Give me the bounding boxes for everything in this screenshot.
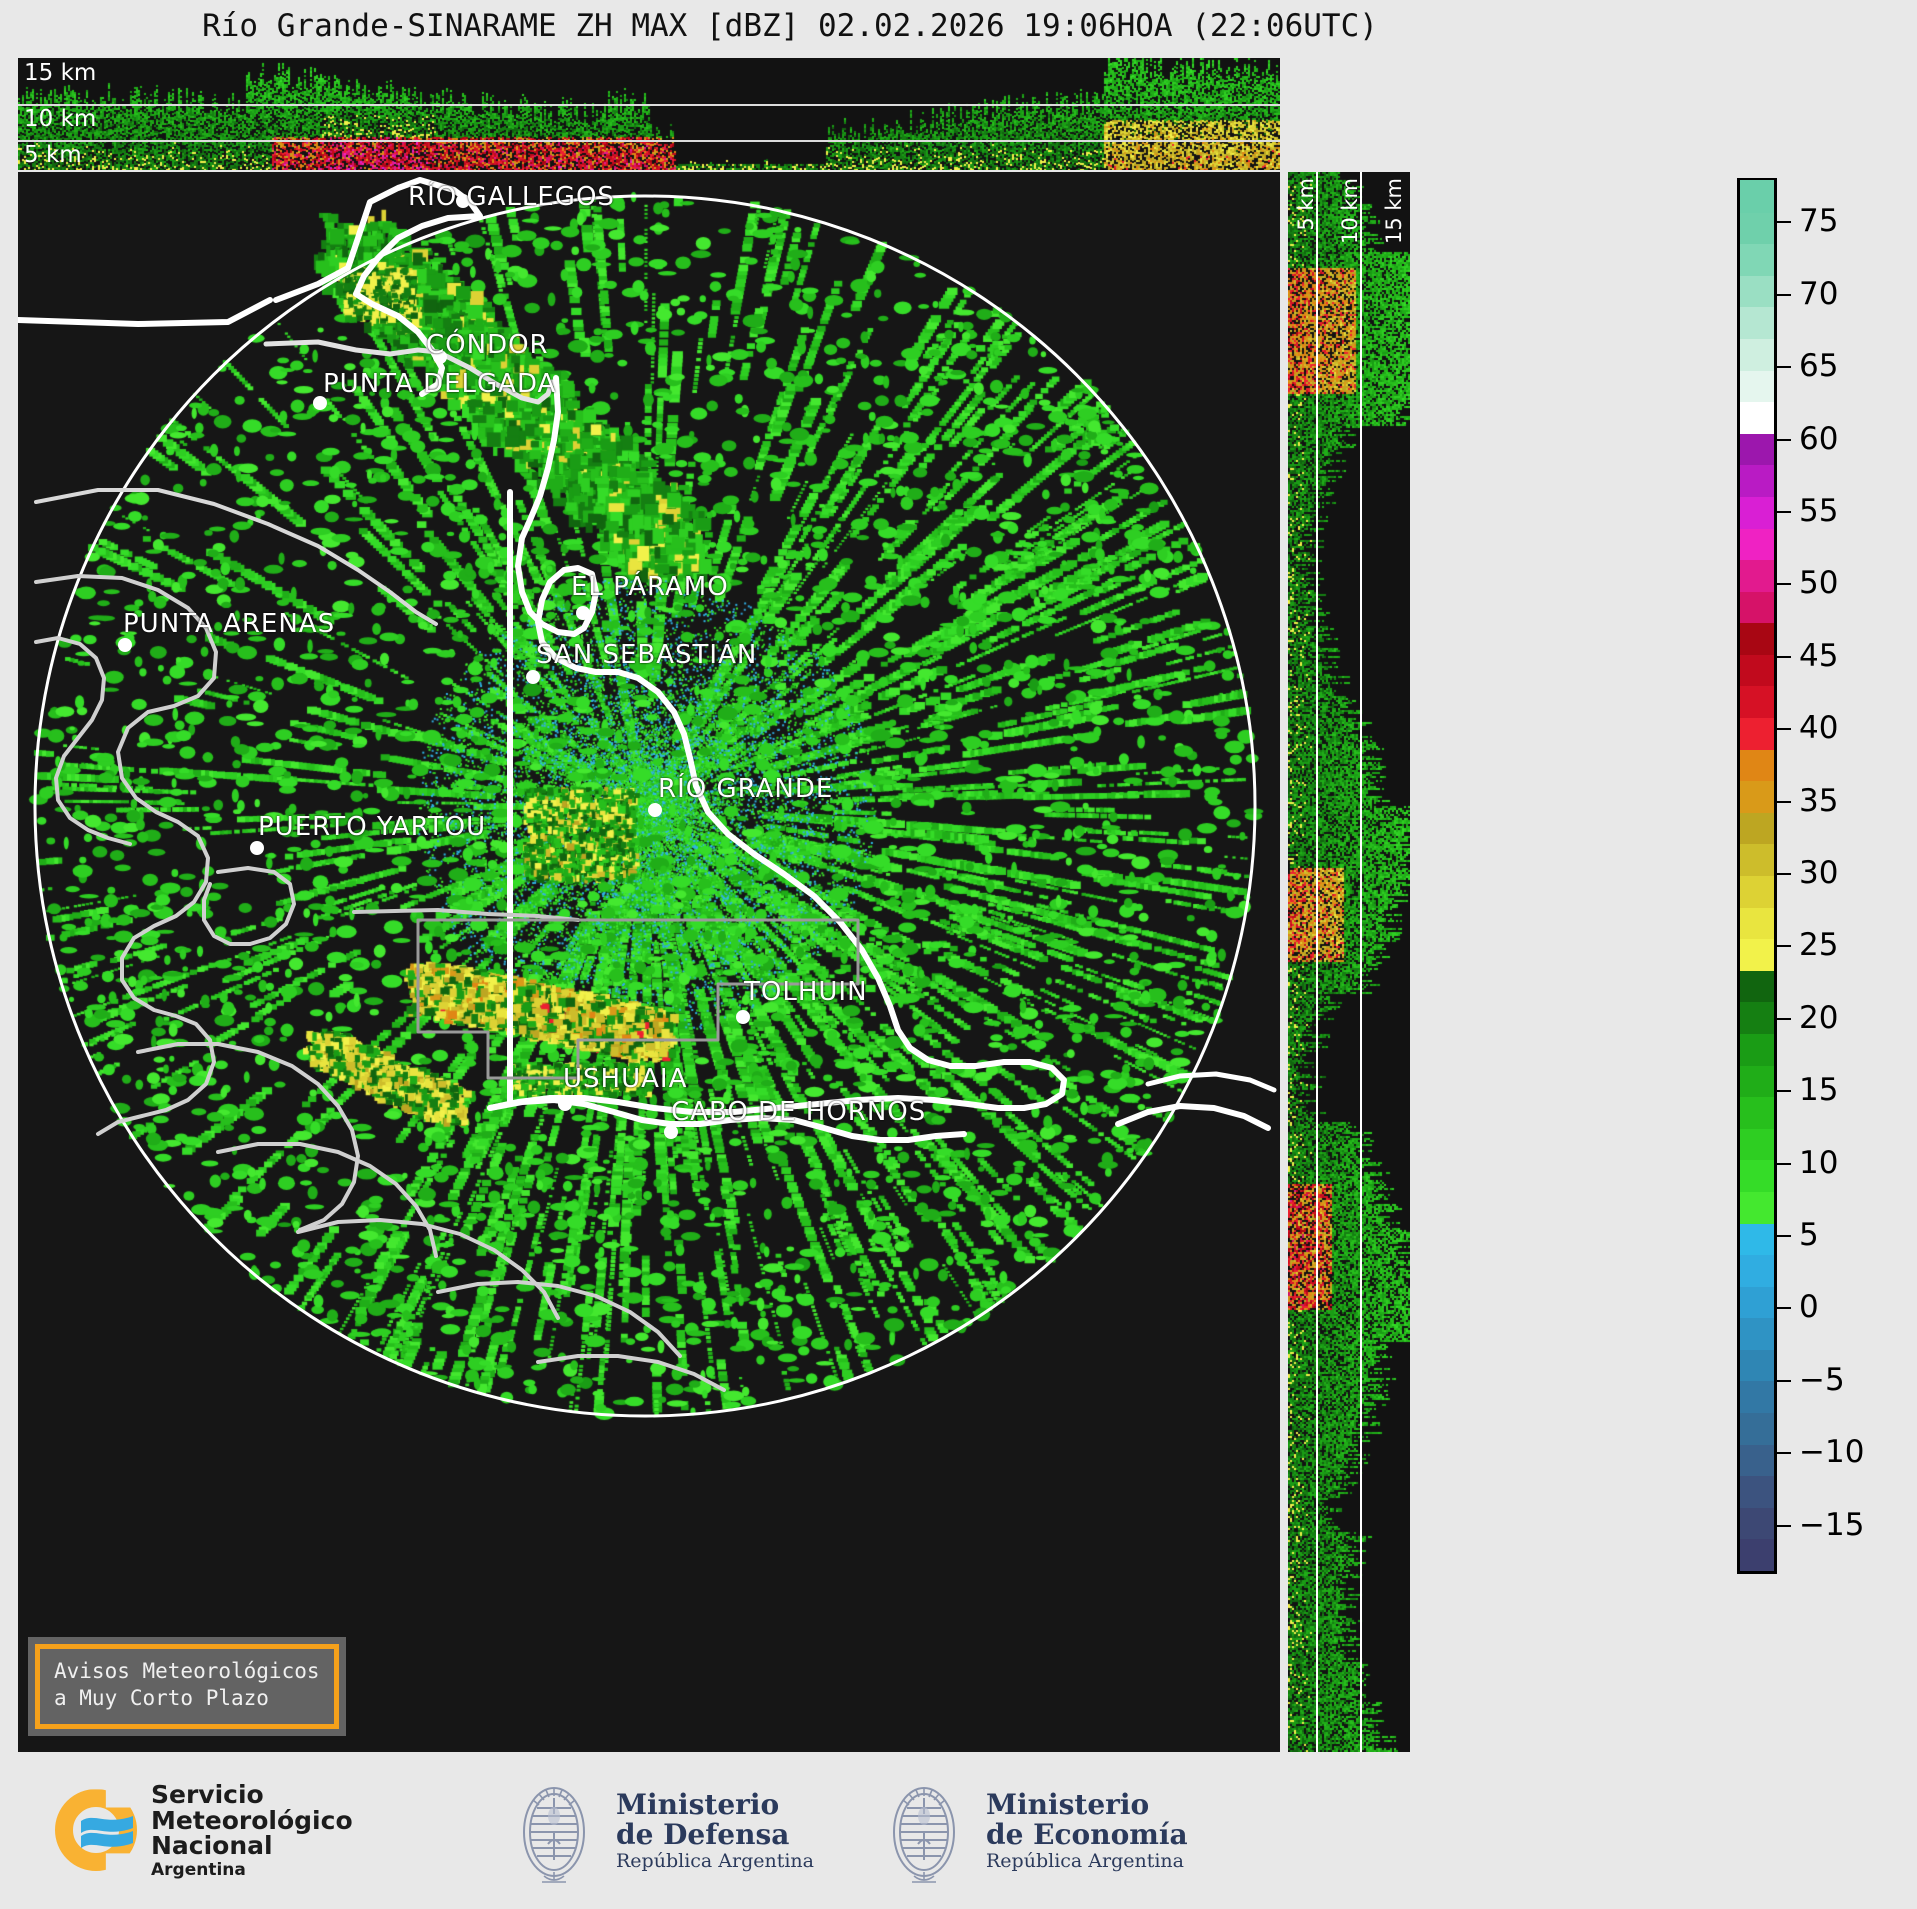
city-marker-tolhuin [736,1010,750,1024]
colorbar-tick-label: 50 [1799,565,1838,601]
colorbar-tick-label: 20 [1799,1000,1838,1036]
colorbar-segment [1740,938,1774,970]
smn-line-4: Argentina [151,1862,353,1879]
colorbar-segment [1740,1317,1774,1349]
colorbar-segment [1740,212,1774,244]
gridline-10km [18,104,1280,106]
colorbar-tick-label: 55 [1799,493,1838,529]
city-marker-el-páramo [576,606,590,620]
island-dawson [204,868,294,944]
colorbar-tick [1777,1163,1791,1165]
coastline-strait-north [36,490,436,624]
city-marker-cóndor [433,350,447,364]
colorbar-segment [1740,1065,1774,1097]
colorbar-tick-label: 25 [1799,927,1838,963]
smn-logo: Servicio Meteorológico Nacional Argentin… [55,1782,353,1879]
colorbar-tick [1777,1380,1791,1382]
colorbar-segment [1740,622,1774,654]
islands-east [1118,1106,1268,1128]
gridline-10km-vertical [1360,172,1362,1752]
colorbar-segment [1740,307,1774,339]
warning-box-inner: Avisos Meteorológicos a Muy Corto Plazo [35,1644,339,1729]
coastline-tierra-del-fuego-east [490,378,1064,1112]
colorbar-segment [1740,1349,1774,1381]
colorbar-tick [1777,1307,1791,1309]
colorbar-segment [1740,1191,1774,1223]
colorbar-segment [1740,465,1774,497]
colorbar-tick [1777,728,1791,730]
economia-line-3: República Argentina [986,1852,1188,1872]
colorbar-segment [1740,812,1774,844]
colorbar-segment [1740,496,1774,528]
defensa-line-2: de Defensa [616,1820,814,1849]
top-cross-section-panel: 15 km 10 km 5 km [18,58,1280,170]
colorbar-tick [1777,1018,1791,1020]
colorbar-segment [1740,1444,1774,1476]
colorbar-segment [1740,1033,1774,1065]
top-cross-section-canvas [18,58,1280,170]
colorbar-tick-label: −15 [1799,1507,1864,1543]
colorbar-segment [1740,907,1774,939]
colorbar-tick-label: 30 [1799,855,1838,891]
colorbar-tick-label: −10 [1799,1434,1864,1470]
coastline-rio-gallegos [276,180,480,394]
colorbar-segment [1740,338,1774,370]
city-marker-san-sebastián [526,670,540,684]
warning-box[interactable]: Avisos Meteorológicos a Muy Corto Plazo [28,1637,346,1736]
colorbar-segment [1740,1286,1774,1318]
smn-wordmark: Servicio Meteorológico Nacional Argentin… [151,1782,353,1879]
ministerio-defensa-wordmark: Ministerio de Defensa República Argentin… [616,1790,814,1872]
border-north [18,300,270,324]
colorbar-tick [1777,439,1791,441]
reflectivity-colorbar [1737,178,1777,1574]
colorbar-segment [1740,717,1774,749]
colorbar-tick-label: 35 [1799,783,1838,819]
admin-boundary-park [418,920,858,1078]
smn-line-2: Meteorológico [151,1808,353,1834]
colorbar-segment [1740,433,1774,465]
colorbar-segment [1740,1002,1774,1034]
city-marker-cabo-de-hornos [664,1125,678,1139]
colorbar-segment [1740,1475,1774,1507]
colorbar-tick-labels: −15−10−5051015202530354045505560657075 [1777,178,1907,1574]
colorbar-segment [1740,1223,1774,1255]
colorbar-segment [1740,749,1774,781]
colorbar-segment [1740,180,1774,212]
altitude-label-15km-right: 15 km [1382,178,1406,244]
altitude-label-10km-right: 10 km [1338,178,1362,244]
right-cross-section-panel: 5 km 10 km 15 km [1288,172,1410,1752]
radar-map-panel[interactable]: RÍO GALLEGOSCÓNDORPUNTA DELGADAEL PÁRAMO… [18,172,1280,1752]
smn-line-3: Nacional [151,1833,353,1859]
economia-line-2: de Economía [986,1820,1188,1849]
island-navarino-north [218,1144,436,1256]
warning-line-2: a Muy Corto Plazo [54,1685,320,1713]
smn-line-1: Servicio [151,1782,353,1808]
colorbar-tick [1777,873,1791,875]
economia-line-1: Ministerio [986,1790,1188,1819]
colorbar-segment [1740,844,1774,876]
smn-wave-icon [81,1812,133,1850]
colorbar-segment [1740,1381,1774,1413]
colorbar-tick [1777,294,1791,296]
colorbar-segment [1740,1160,1774,1192]
ministerio-economia-logo: Ministerio de Economía República Argenti… [878,1772,1188,1890]
island-hoste [138,1044,358,1230]
colorbar-tick-label: −5 [1799,1362,1845,1398]
colorbar-tick [1777,656,1791,658]
argentina-coat-of-arms-icon [508,1772,600,1890]
coastline-chile-west [36,576,216,1134]
city-marker-río-grande [648,803,662,817]
colorbar-tick-label: 5 [1799,1217,1819,1253]
colorbar-tick-label: 60 [1799,421,1838,457]
colorbar-segment [1740,370,1774,402]
colorbar-tick [1777,511,1791,513]
colorbar-tick [1777,1090,1791,1092]
colorbar-segment [1740,970,1774,1002]
colorbar-segment [1740,1096,1774,1128]
colorbar-segment [1740,1539,1774,1571]
colorbar-segment [1740,780,1774,812]
defensa-line-1: Ministerio [616,1790,814,1819]
colorbar-tick [1777,1525,1791,1527]
island-chain-south [298,1220,558,1318]
altitude-label-15km: 15 km [24,60,96,86]
ministerio-economia-wordmark: Ministerio de Economía República Argenti… [986,1790,1188,1872]
altitude-label-10km: 10 km [24,106,96,132]
colorbar-tick [1777,801,1791,803]
colorbar-segment [1740,401,1774,433]
colorbar-tick-label: 0 [1799,1289,1819,1325]
colorbar-tick [1777,945,1791,947]
colorbar-tick-label: 10 [1799,1145,1838,1181]
colorbar-segment [1740,528,1774,560]
islands-east-2 [1148,1074,1274,1090]
city-marker-punta-arenas [118,638,132,652]
colorbar-segment [1740,875,1774,907]
colorbar-segment [1740,1254,1774,1286]
city-marker-punta-delgada [313,396,327,410]
warning-line-1: Avisos Meteorológicos [54,1658,320,1686]
argentina-coat-of-arms-icon-2 [878,1772,970,1890]
altitude-label-5km: 5 km [24,142,82,168]
ministerio-defensa-logo: Ministerio de Defensa República Argentin… [508,1772,814,1890]
page-title: Río Grande-SINARAME ZH MAX [dBZ] 02.02.2… [0,8,1580,44]
colorbar-segment [1740,654,1774,686]
footer-logos: Servicio Meteorológico Nacional Argentin… [0,1760,1917,1909]
colorbar-segment [1740,1507,1774,1539]
gridline-5km [18,140,1280,142]
colorbar-segment [1740,275,1774,307]
coastline-punta-delgada [266,342,552,402]
radar-range-ring [35,196,1255,1416]
colorbar-segment [1740,243,1774,275]
colorbar-segment [1740,686,1774,718]
smn-emblem-icon [55,1789,137,1871]
colorbar-tick-label: 40 [1799,710,1838,746]
colorbar-tick [1777,1235,1791,1237]
colorbar-tick-label: 45 [1799,638,1838,674]
islands-far-south [538,1356,724,1390]
colorbar-tick-label: 75 [1799,203,1838,239]
map-overlay-vectors [18,172,1280,1752]
colorbar-tick-label: 65 [1799,348,1838,384]
colorbar-tick [1777,1452,1791,1454]
colorbar-tick-label: 15 [1799,1072,1838,1108]
right-cross-section-canvas [1288,172,1410,1752]
defensa-line-3: República Argentina [616,1852,814,1872]
city-marker-río-gallegos [456,194,470,208]
colorbar-segment [1740,559,1774,591]
colorbar-segment [1740,591,1774,623]
colorbar-tick-label: 70 [1799,276,1838,312]
city-marker-puerto-yartou [250,841,264,855]
city-marker-ushuaia [558,1097,572,1111]
colorbar-tick [1777,366,1791,368]
colorbar-tick [1777,583,1791,585]
gridline-5km-vertical [1316,172,1318,1752]
colorbar-segment [1740,1128,1774,1160]
colorbar-segment [1740,1412,1774,1444]
altitude-label-5km-right: 5 km [1294,178,1318,231]
colorbar-tick [1777,221,1791,223]
